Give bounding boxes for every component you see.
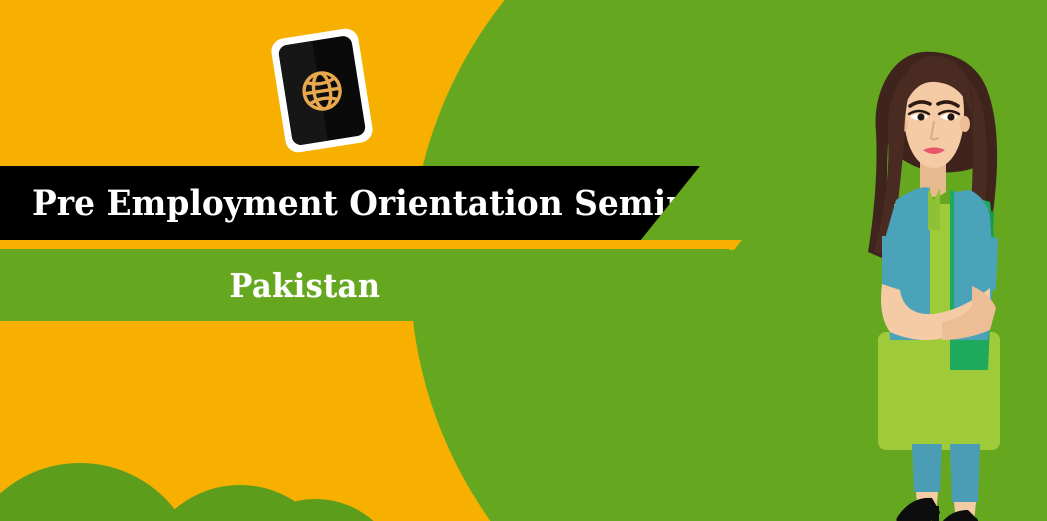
woman-illustration (838, 40, 1047, 521)
pants-left (912, 444, 942, 492)
heel-left (932, 506, 939, 521)
globe-icon (296, 64, 349, 117)
title-band: Pre Employment Orientation Seminar (0, 166, 700, 241)
accent-strip (0, 240, 742, 250)
passport-icon (270, 27, 375, 154)
pants-right (950, 444, 980, 502)
page-title: Pre Employment Orientation Seminar (32, 183, 729, 224)
sleeve-right (972, 236, 998, 290)
seminar-banner: Pre Employment Orientation Seminar Pakis… (0, 0, 1047, 521)
pupil-left (917, 113, 924, 120)
sleeve-left (882, 236, 908, 288)
subtitle-band: Pakistan (0, 249, 730, 321)
subtitle-text: Pakistan (230, 266, 381, 305)
pupil-right (947, 113, 954, 120)
ear-right (960, 116, 970, 132)
